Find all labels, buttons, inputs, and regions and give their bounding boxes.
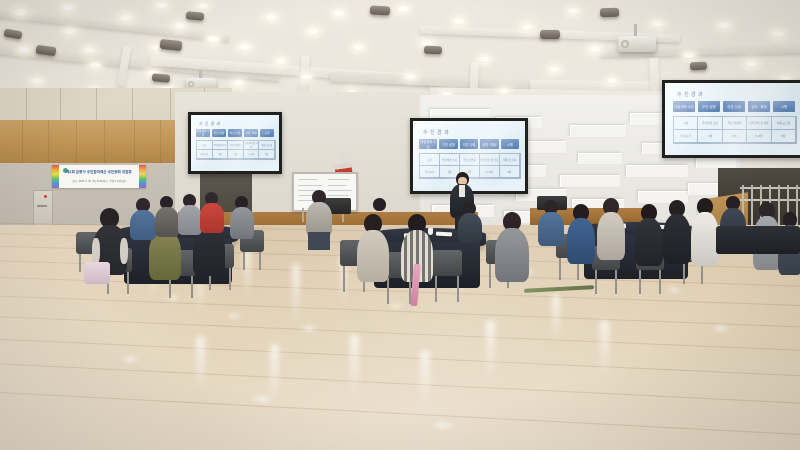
slide-header-boxes: 사업계획 수립 주민 설명 의견 수렴 심의 · 확정 시행 [673,101,795,112]
banner-title: 제1회 은평구 주민참여예산 주민총회 위원회 [61,170,137,175]
slide-header-box: 의견 수렴 [228,129,242,137]
slide-cell: 6~8월 [244,150,260,159]
projector [618,36,656,52]
photo-scene: 추 진 경 과 사업계획 수립 주민 설명 의견 수렴 심의 · 확정 시행 구… [0,0,800,450]
ceiling-speaker-icon [690,62,707,71]
slide-header-box: 사업계획 수립 [673,101,695,112]
slide-cell: 최종 보고회 [259,141,275,150]
ceiling-downlight [172,22,187,30]
slide-cell: 주민의견 조사 [440,154,460,166]
ceiling-speaker-icon [424,46,442,55]
handbag [84,262,110,284]
ceiling-speaker-icon [600,8,619,17]
slide-cell: 주민 설명회 [723,117,747,130]
ceiling-downlight [566,8,581,15]
slide-cell: 추진시기 [197,150,213,159]
ceiling-downlight [520,24,534,31]
slide-header-box: 심의 · 확정 [244,129,258,137]
slide-cell: 주민 설명회 [460,154,480,166]
slide-cell: 최종 보고회 [500,154,520,166]
slide-title: 추 진 경 과 [423,129,449,136]
slide-header-box: 심의 · 확정 [480,139,498,149]
ceiling-downlight [60,4,76,12]
slide-header-box: 심의 · 확정 [748,101,770,112]
slide-header-box: 시행 [773,101,795,112]
participant [662,200,692,276]
ceiling-downlight [232,80,245,86]
slide-cell: 5월 [228,150,244,159]
slide-header-box: 주민 설명 [212,129,226,137]
slide-cell: 주민의견 조사 [698,117,722,130]
participant [634,204,664,276]
ceiling-downlight [300,74,313,80]
ceiling-downlight [62,28,78,36]
participant [596,198,626,270]
slide-header-box: 시행 [501,139,519,149]
participant [230,196,254,240]
left-projection-screen: 추 진 경 과 사업계획 수립 주민 설명 의견 수렴 심의 · 확정 시행 구… [188,112,282,174]
slide-cell: 9월 [259,150,275,159]
slide-cell: 4월 [213,150,229,159]
participant [368,198,392,240]
ceiling-downlight [206,36,220,43]
ceiling-speaker-icon [540,30,560,39]
ceiling-downlight [452,18,466,25]
ceiling-downlight [606,78,618,84]
indicator-led-icon [44,195,47,198]
slide-cell: 구분 [197,141,213,150]
slide-cell: 주민의견 조사 [213,141,229,150]
ceiling-speaker-icon [152,73,171,83]
participant [155,196,179,238]
presenter-shirt [459,185,465,197]
slide-cell: 구분 [674,117,698,130]
ceiling-downlight [650,20,665,28]
ceiling-downlight [352,44,365,51]
slide-cell: 5월 [723,130,747,143]
ceiling-downlight [264,14,278,21]
ceiling-downlight [396,6,410,13]
slide-cell: 추진시기 [674,130,698,143]
slide-cell: 4월 [698,130,722,143]
ceiling-downlight [16,46,32,54]
ceiling-downlight [332,10,346,17]
table-document [436,232,452,237]
slide-cell: 9월 [500,166,520,178]
ceiling-downlight [118,14,134,22]
participant [200,192,224,234]
right-projection-screen: 추 진 경 과 사업계획 수립 주민 설명 의견 수렴 심의 · 확정 시행 구… [662,80,800,158]
ceiling-downlight [238,44,252,51]
ceiling-downlight [154,2,169,9]
ceiling-speaker-icon [186,11,205,21]
participant [538,200,564,248]
ceiling-downlight [770,30,786,38]
participant [178,194,202,236]
slide-header-box: 의견 수렴 [723,101,745,112]
ceiling-downlight [274,58,287,65]
participant [566,204,596,274]
slide-table: 구분 주민의견 조사 주민 설명회 실무협의 및 자문 최종 보고회 추진시기 … [196,140,276,160]
ceiling-downlight [88,62,102,69]
ceiling-downlight [682,52,696,59]
slide-header-box: 의견 수렴 [460,139,478,149]
slide-title: 추 진 경 과 [677,91,703,98]
slide-header-box: 사업계획 수립 [419,139,437,149]
event-banner: 제1회 은평구 주민참여예산 주민총회 위원회 일시 : 2019. 5. 30… [52,165,146,188]
slide-cell: 9월 [772,130,796,143]
wood-wainscot [0,120,180,165]
participant-skirt [308,232,330,250]
banner-subtitle: 일시 : 2019. 5. 30. (목) 14:00 장소 : 은평구 주민회… [61,179,137,183]
slide-header-box: 주민 설명 [439,139,457,149]
slide-header-boxes: 사업계획 수립 주민 설명 의견 수렴 심의 · 확정 시행 [196,129,274,137]
ceiling-speaker-icon [370,5,390,15]
slide-cell: 실무협의 및 자문 [747,117,771,130]
slide-cell: 실무협의 및 자문 [244,141,260,150]
ceiling-downlight [30,78,44,85]
wall-control-panel [33,190,53,228]
ceiling-downlight [404,74,417,80]
slide-cell: 6~8월 [480,166,500,178]
ceiling-downlight [478,56,491,63]
chair [432,250,462,302]
slide-title: 추 진 경 과 [199,121,221,127]
participant [458,202,482,244]
slide-table: 구분 주민의견 조사 주민 설명회 실무협의 및 자문 최종 보고회 추진시기 … [673,116,797,144]
ceiling-downlight [82,46,97,54]
ceiling-downlight [196,3,210,10]
slide-header-box: 시행 [260,129,274,137]
slide-cell: 구분 [420,154,440,166]
participant [494,212,530,292]
ceiling-downlight [548,66,561,73]
ceiling-downlight [588,46,602,53]
participant [130,198,156,242]
slide-cell: 최종 보고회 [772,117,796,130]
ceiling-downlight [744,60,759,68]
participant [306,190,332,250]
slide-header-box: 사업계획 수립 [196,129,210,137]
slide-header-boxes: 사업계획 수립 주민 설명 의견 수렴 심의 · 확정 시행 [419,139,519,149]
slide-cell: 실무협의 및 자문 [480,154,500,166]
ceiling-downlight [12,8,29,17]
ceiling-speaker-icon [160,39,183,51]
slide-cell: 주민 설명회 [228,141,244,150]
ceiling-downlight [716,22,732,30]
ceiling-downlight [306,28,320,35]
ceiling-downlight [498,88,510,94]
slide-cell: 추진시기 [420,166,440,178]
slide-cell: 6~8월 [747,130,771,143]
slide-header-box: 주민 설명 [698,101,720,112]
side-desk [716,226,800,254]
